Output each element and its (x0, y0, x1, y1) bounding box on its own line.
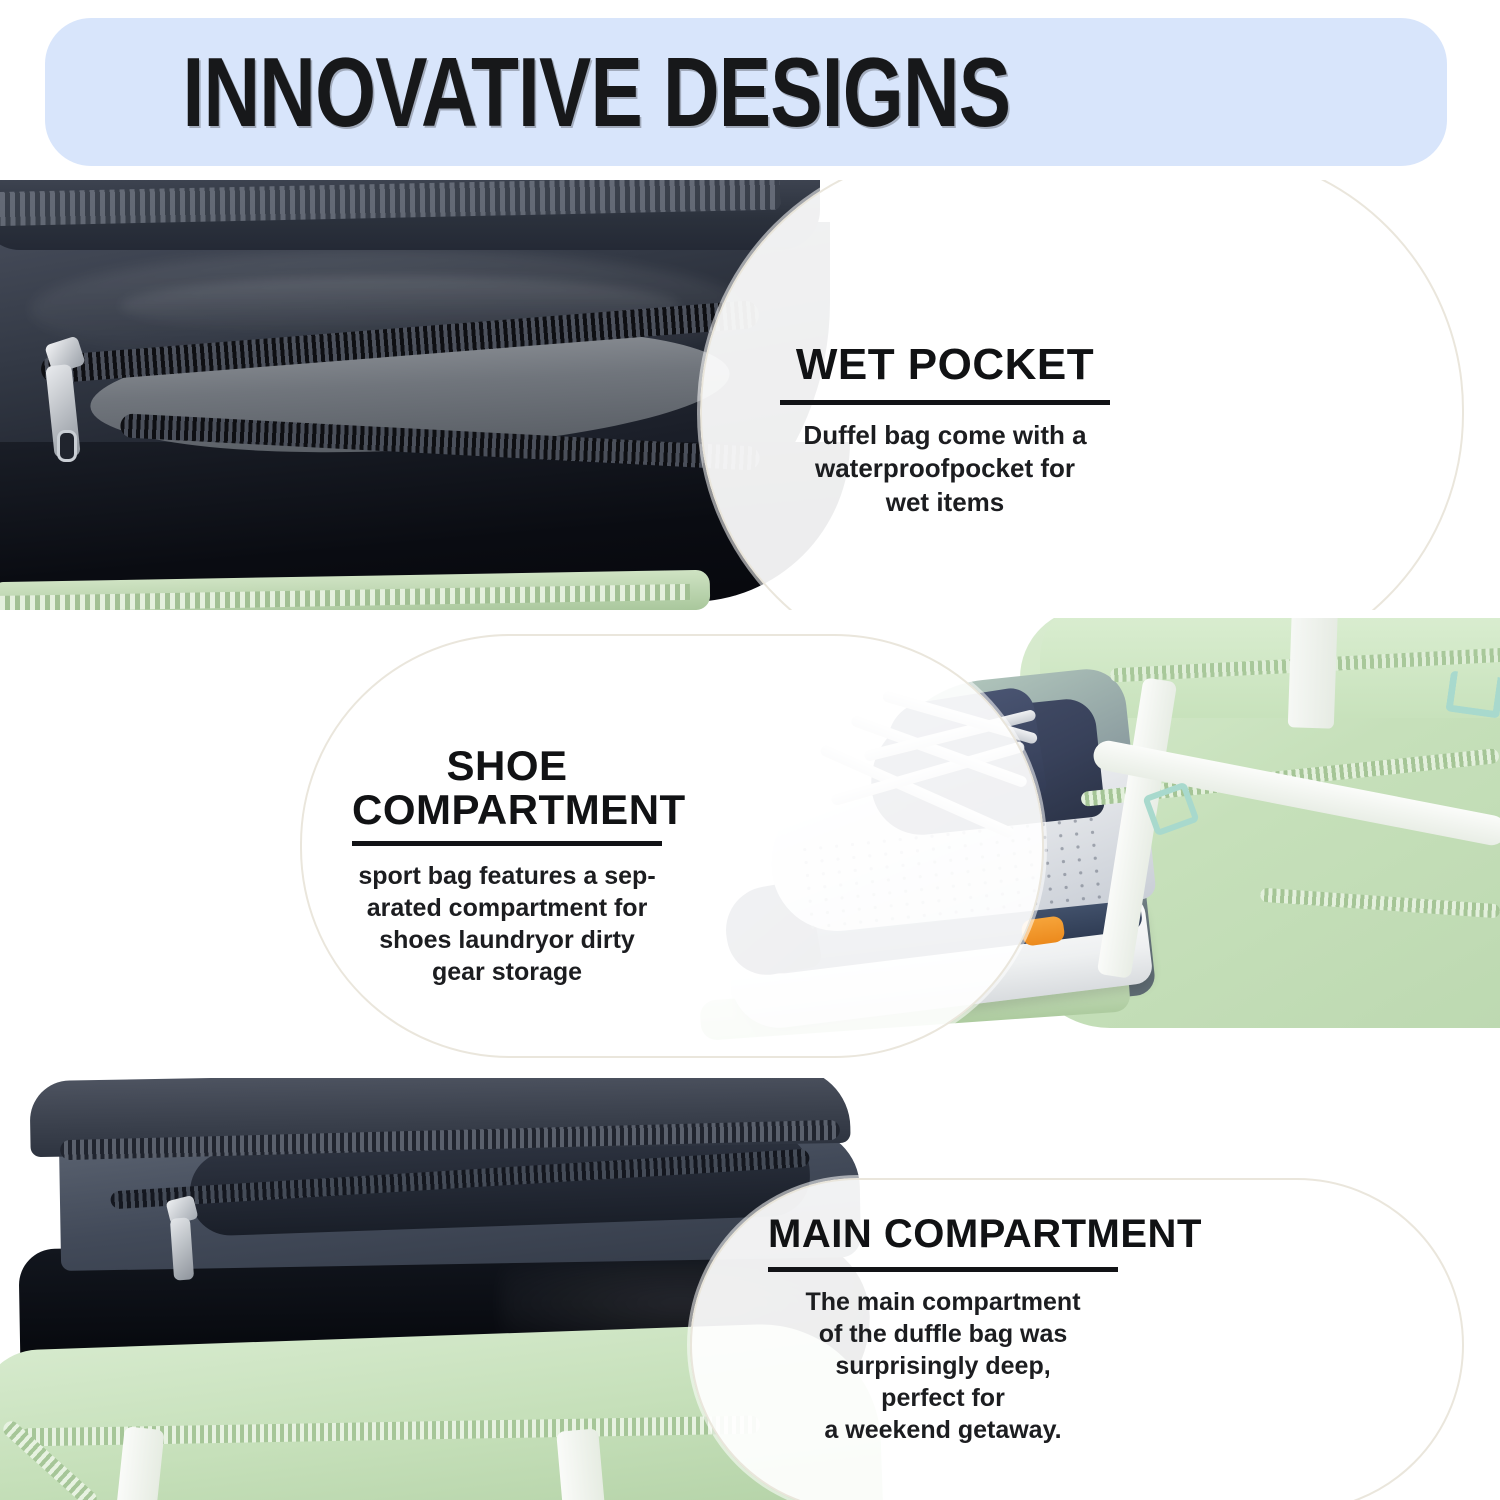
main-compartment-title: MAIN COMPARTMENT (768, 1212, 1118, 1257)
bag-handle-left (115, 1426, 164, 1500)
wet-pocket-body: Duffel bag come with a waterproofpocket … (780, 419, 1110, 519)
wet-pocket-text-block: WET POCKET Duffel bag come with a waterp… (780, 340, 1110, 519)
main-compartment-divider (768, 1267, 1118, 1272)
main-compartment-text-block: MAIN COMPARTMENT The main compartment of… (768, 1212, 1118, 1446)
wet-pocket-body-line: wet items (780, 486, 1110, 519)
zipper-pull-hole (57, 430, 77, 462)
main-compartment-body-line: The main compartment (768, 1286, 1118, 1318)
shoe-compartment-divider (352, 841, 662, 846)
main-compartment-body-line: of the duffle bag was (768, 1318, 1118, 1350)
main-compartment-body-line: perfect for (768, 1382, 1118, 1414)
shoe-compartment-title-line: SHOE (352, 744, 662, 788)
main-compartment-body-line: surprisingly deep, (768, 1350, 1118, 1382)
infographic-root: INNOVATIVE DESIGNS WET POCKET Duffel bag… (0, 0, 1500, 1500)
shoe-compartment-title-line: COMPARTMENT (352, 788, 662, 832)
main-compartment-body: The main compartment of the duffle bag w… (768, 1286, 1118, 1446)
main-compartment-body-line: a weekend getaway. (768, 1414, 1118, 1446)
feature-panel-main-compartment (0, 1078, 1500, 1500)
bag-handle-right (556, 1428, 606, 1500)
page-title: INNOVATIVE DESIGNS (45, 18, 1447, 166)
feature-panel-shoe-compartment (0, 618, 1500, 1068)
wet-pocket-body-line: waterproofpocket for (780, 452, 1110, 485)
wet-pocket-divider (780, 400, 1110, 405)
wet-pocket-body-line: Duffel bag come with a (780, 419, 1110, 452)
shoe-compartment-body-line: sport bag features a sep- (352, 860, 662, 892)
wet-pocket-title: WET POCKET (780, 340, 1110, 390)
shoe-compartment-text-block: SHOE COMPARTMENT sport bag features a se… (352, 744, 662, 988)
shoe-compartment-body-line: arated compartment for (352, 892, 662, 924)
feature-panel-wet-pocket (0, 180, 1500, 610)
shoe-compartment-body-line: gear storage (352, 956, 662, 988)
shoe-compartment-body-line: shoes laundryor dirty (352, 924, 662, 956)
shoe-compartment-title: SHOE COMPARTMENT (352, 744, 662, 831)
shoe-compartment-body: sport bag features a sep- arated compart… (352, 860, 662, 988)
page-title-text: INNOVATIVE DESIGNS (182, 43, 1010, 141)
interior-zipper-pull-tab (170, 1217, 194, 1280)
triangle-zipper-pull-icon (1445, 670, 1500, 718)
bag-carry-handle (1288, 618, 1339, 729)
